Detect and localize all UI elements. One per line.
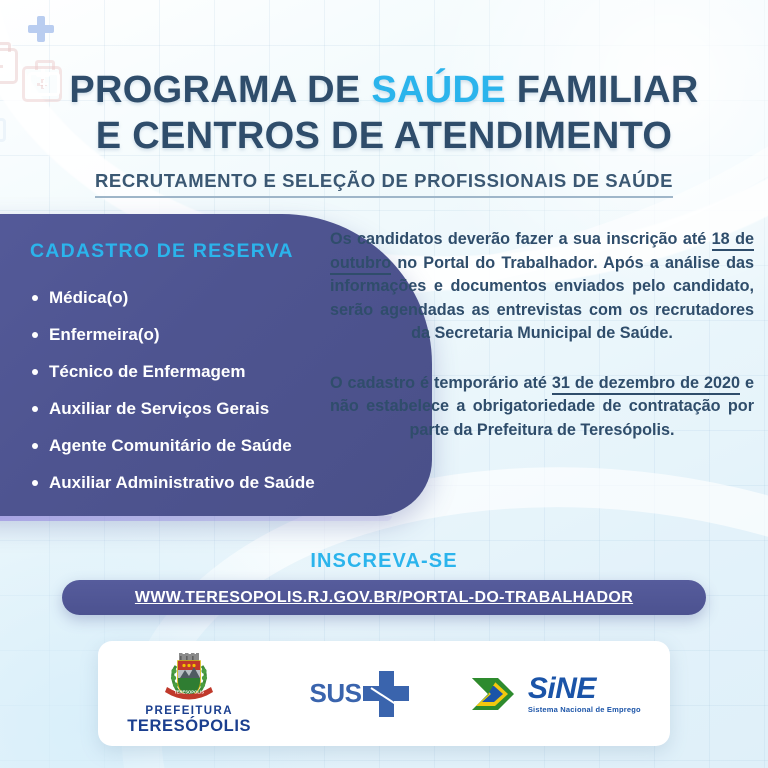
info-paragraph-1: Os candidatos deverão fazer a sua inscri… (330, 228, 754, 346)
sine-wordmark: SiNE (528, 674, 641, 704)
medical-cross-icon (28, 16, 54, 42)
cta-label: INSCREVA-SE (0, 550, 768, 573)
paragraph-1-after: no Portal do Trabalhador. Após a análise… (330, 254, 754, 343)
teresopolis-coat-of-arms-icon: TERESOPOLIS (161, 652, 217, 704)
prefeitura-teresopolis-logo: TERESOPOLIS PREFEITURA TERESÓPOLIS (127, 652, 251, 735)
logo-bar: TERESOPOLIS PREFEITURA TERESÓPOLIS SUS S… (98, 641, 670, 746)
sus-wordmark: SUS (310, 678, 362, 709)
poster-canvas: PROGRAMA DE SAÚDE FAMILIAR E CENTROS DE … (0, 0, 768, 768)
portal-url-button[interactable]: WWW.TERESOPOLIS.RJ.GOV.BR/PORTAL-DO-TRAB… (62, 580, 706, 615)
page-subtitle-text: RECRUTAMENTO E SELEÇÃO DE PROFISSIONAIS … (95, 170, 673, 198)
sus-logo: SUS (310, 671, 410, 717)
info-column: Os candidatos deverão fazer a sua inscri… (330, 228, 754, 442)
portal-url-text: WWW.TERESOPOLIS.RJ.GOV.BR/PORTAL-DO-TRAB… (135, 589, 633, 607)
prefeitura-label-line-1: PREFEITURA (145, 705, 232, 717)
page-subtitle: RECRUTAMENTO E SELEÇÃO DE PROFISSIONAIS … (0, 170, 768, 198)
headline-text-before-accent: PROGRAMA DE (69, 69, 371, 111)
sine-tagline: Sistema Nacional de Emprego (528, 705, 641, 714)
page-title: PROGRAMA DE SAÚDE FAMILIAR E CENTROS DE … (0, 67, 768, 159)
sine-brazil-chevron-icon (468, 670, 524, 718)
sine-logo: SiNE Sistema Nacional de Emprego (468, 670, 641, 718)
paragraph-2-before: O cadastro é temporário até (330, 374, 552, 392)
headline-line-2: E CENTROS DE ATENDIMENTO (0, 113, 768, 159)
list-item: Auxiliar Administrativo de Saúde (30, 472, 402, 494)
info-paragraph-2: O cadastro é temporário até 31 de dezemb… (330, 372, 754, 443)
cta-label-text: INSCREVA-SE (310, 550, 457, 572)
headline-line-1: PROGRAMA DE SAÚDE FAMILIAR (0, 67, 768, 113)
sus-cross-icon (363, 671, 409, 717)
expiry-highlight: 31 de dezembro de 2020 (552, 374, 740, 395)
prefeitura-label-line-2: TERESÓPOLIS (127, 717, 251, 735)
svg-text:TERESOPOLIS: TERESOPOLIS (174, 690, 204, 695)
headline-text-after-accent: FAMILIAR (506, 69, 699, 111)
headline-accent-word: SAÚDE (371, 69, 506, 111)
paragraph-1-before: Os candidatos deverão fazer a sua inscri… (330, 230, 712, 248)
